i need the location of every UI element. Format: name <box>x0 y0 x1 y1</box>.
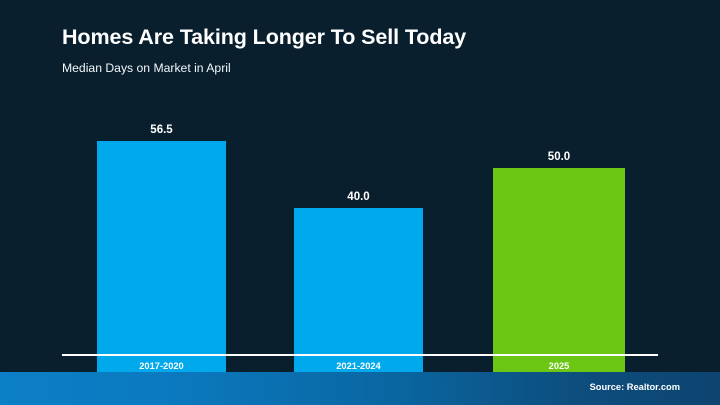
bar-value-2017-2020: 56.5 <box>97 123 226 137</box>
x-tick-label-2017-2020: 2017-2020 <box>97 360 226 372</box>
bar-group-2025: 50.0 <box>493 168 625 372</box>
chart-slide: Homes Are Taking Longer To Sell Today Me… <box>0 0 720 405</box>
bar-2021-2024[interactable] <box>294 208 423 372</box>
footer-bar: Source: Realtor.com <box>0 372 720 405</box>
x-axis-line <box>62 354 658 356</box>
x-tick-label-2021-2024: 2021-2024 <box>294 360 423 372</box>
x-tick-label-2025: 2025 <box>493 360 625 372</box>
bar-group-2021-2024: 40.0 <box>294 208 423 372</box>
plot-area: 56.5 40.0 50.0 <box>0 0 720 372</box>
bar-value-2021-2024: 40.0 <box>294 190 423 204</box>
bar-group-2017-2020: 56.5 <box>97 141 226 372</box>
bar-2017-2020[interactable] <box>97 141 226 372</box>
bar-2025[interactable] <box>493 168 625 372</box>
bar-value-2025: 50.0 <box>493 150 625 164</box>
source-attribution: Source: Realtor.com <box>590 381 680 393</box>
